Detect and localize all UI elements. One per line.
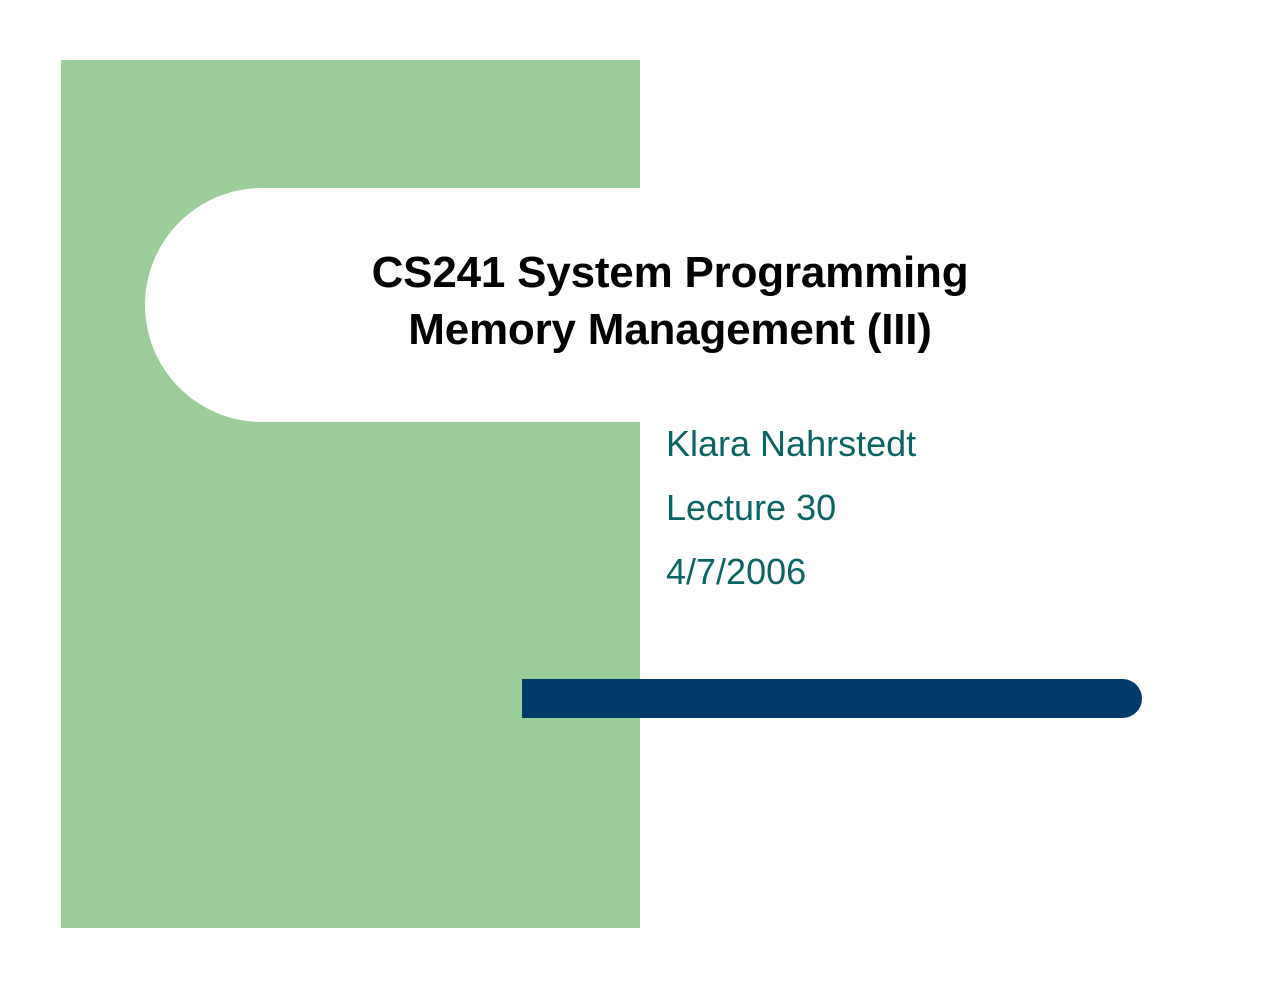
navy-accent-bar: [522, 679, 1142, 718]
subtitle-date: 4/7/2006: [666, 540, 916, 604]
title-slide: CS241 System Programming Memory Manageme…: [0, 0, 1280, 989]
subtitle-author: Klara Nahrstedt: [666, 412, 916, 476]
slide-title: CS241 System Programming Memory Manageme…: [215, 244, 1125, 358]
subtitle-lecture-number: Lecture 30: [666, 476, 916, 540]
slide-title-line-2: Memory Management (III): [215, 301, 1125, 358]
slide-title-line-1: CS241 System Programming: [215, 244, 1125, 301]
slide-subtitle: Klara Nahrstedt Lecture 30 4/7/2006: [666, 412, 916, 604]
